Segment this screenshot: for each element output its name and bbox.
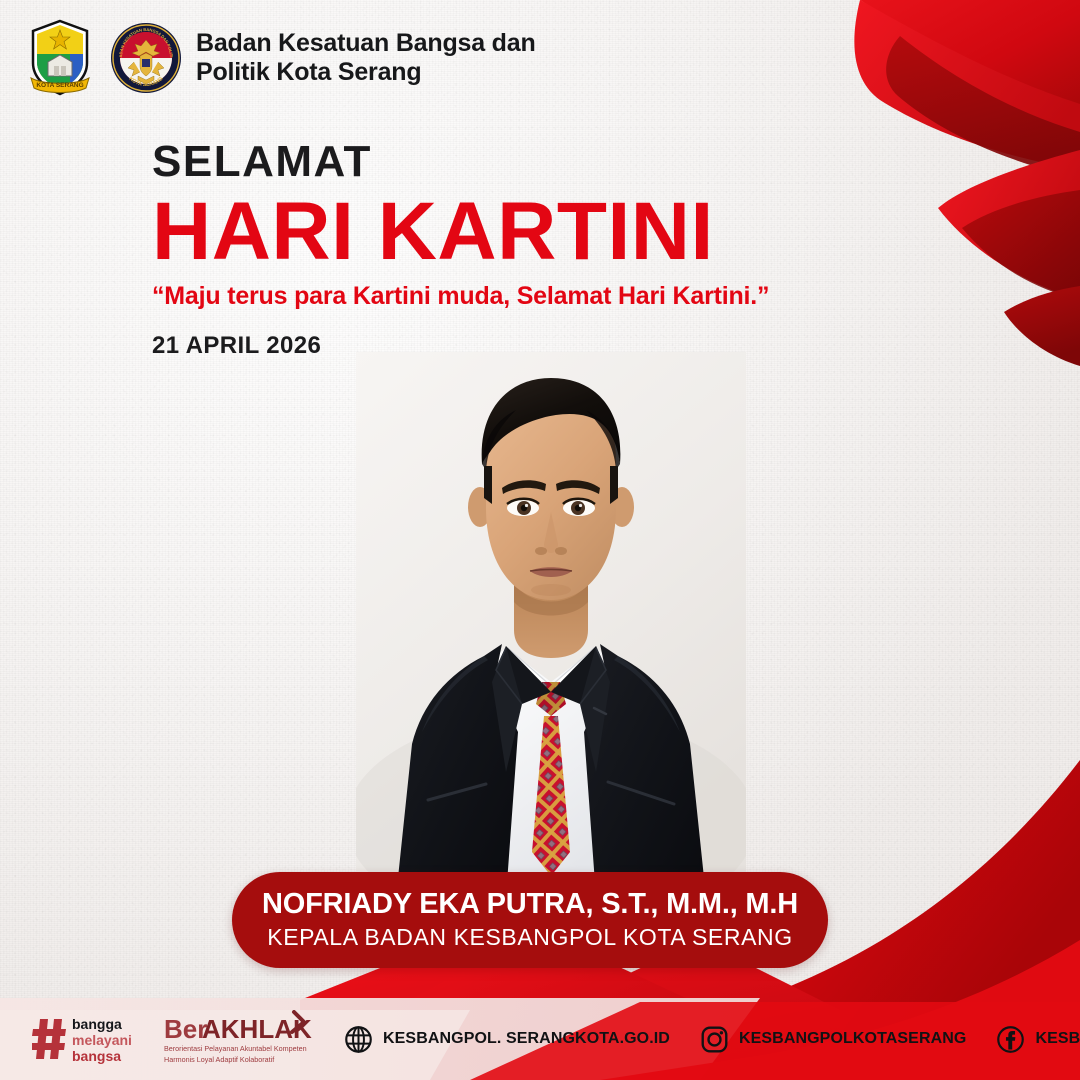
- footer-logo-group: bangga melayani bangsa Ber AKHLAK Berori…: [32, 1010, 312, 1068]
- berakhlak-logo: Ber AKHLAK Berorientasi Pelayanan Akunta…: [162, 1010, 312, 1068]
- date-text: 21 APRIL 2026: [152, 332, 769, 360]
- bangga-line3: bangsa: [72, 1048, 121, 1064]
- facebook-icon: [996, 1025, 1025, 1054]
- instagram-handle: KESBANGPOLKOTASERANG: [739, 1030, 967, 1048]
- quote-text: “Maju terus para Kartini muda, Selamat H…: [152, 282, 769, 311]
- globe-icon: [344, 1025, 373, 1054]
- official-position: KEPALA BADAN KESBANGPOL KOTA SERANG: [267, 924, 792, 951]
- social-facebook[interactable]: KESBANGPOLKOTASERANG: [996, 1025, 1080, 1054]
- berakhlak-tagline-2: Harmonis Loyal Adaptif Kolaboratif: [164, 1055, 274, 1064]
- berakhlak-tagline-1: Berorientasi Pelayanan Akuntabel Kompete…: [164, 1044, 307, 1053]
- kesbangpol-seal-logo: BADAN KESATUAN BANGSA DAN POLITIK KOTA S…: [110, 22, 182, 94]
- kota-serang-shield-logo: KOTA SERANG: [24, 18, 96, 98]
- bangga-line1: bangga: [72, 1016, 122, 1032]
- facebook-handle: KESBANGPOLKOTASERANG: [1035, 1030, 1080, 1048]
- header-bar: KOTA SERANG BADAN KESATUAN BANGSA DAN PO…: [24, 18, 536, 98]
- instagram-icon: [700, 1025, 729, 1054]
- official-name: NOFRIADY EKA PUTRA, S.T., M.M., M.H: [262, 889, 798, 921]
- poster-canvas: KOTA SERANG BADAN KESATUAN BANGSA DAN PO…: [0, 0, 1080, 1080]
- greeting-text: SELAMAT: [152, 140, 769, 184]
- social-instagram[interactable]: KESBANGPOLKOTASERANG: [700, 1025, 967, 1054]
- official-portrait-photo: [356, 352, 746, 897]
- footer-social-group: KESBANGPOL. SERANGKOTA.GO.ID KESBANGPOLK…: [344, 1025, 1080, 1054]
- footer-bar: bangga melayani bangsa Ber AKHLAK Berori…: [0, 998, 1080, 1080]
- bangga-melayani-bangsa-logo: bangga melayani bangsa: [32, 1013, 144, 1065]
- portrait-illustration: [356, 352, 746, 897]
- berakhlak-prefix: Ber: [164, 1014, 207, 1044]
- organization-name: Badan Kesatuan Bangsa dan Politik Kota S…: [196, 29, 536, 88]
- name-banner: NOFRIADY EKA PUTRA, S.T., M.M., M.H KEPA…: [232, 872, 828, 968]
- bangga-line2: melayani: [72, 1032, 132, 1048]
- social-website[interactable]: KESBANGPOL. SERANGKOTA.GO.ID: [344, 1025, 670, 1054]
- website-handle: KESBANGPOL. SERANGKOTA.GO.ID: [383, 1030, 670, 1048]
- shield-logo-text: KOTA SERANG: [36, 82, 83, 89]
- headline-block: SELAMAT HARI KARTINI “Maju terus para Ka…: [152, 140, 769, 360]
- main-title: HARI KARTINI: [152, 190, 769, 274]
